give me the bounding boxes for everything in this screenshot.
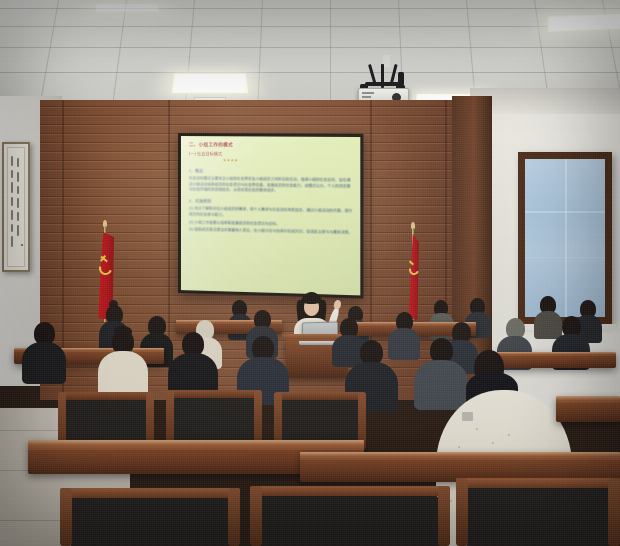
window bbox=[518, 152, 612, 324]
lecture-hall-photo: 二、小组工作的模式 (一) 社会目标模式 ★★★★ 1．概念 社会目标模式主要关… bbox=[0, 0, 620, 546]
desk-right-near bbox=[556, 396, 620, 422]
ceiling-light-panel bbox=[95, 4, 158, 12]
projection-screen: 二、小组工作的模式 (一) 社会目标模式 ★★★★ 1．概念 社会目标模式主要关… bbox=[178, 133, 363, 299]
ceiling-light-panel bbox=[548, 14, 620, 32]
ceiling-light-panel bbox=[172, 73, 248, 93]
desk-row-middle bbox=[486, 352, 616, 368]
window-roller-blind[interactable] bbox=[525, 159, 605, 317]
framed-calligraphy bbox=[2, 142, 30, 272]
